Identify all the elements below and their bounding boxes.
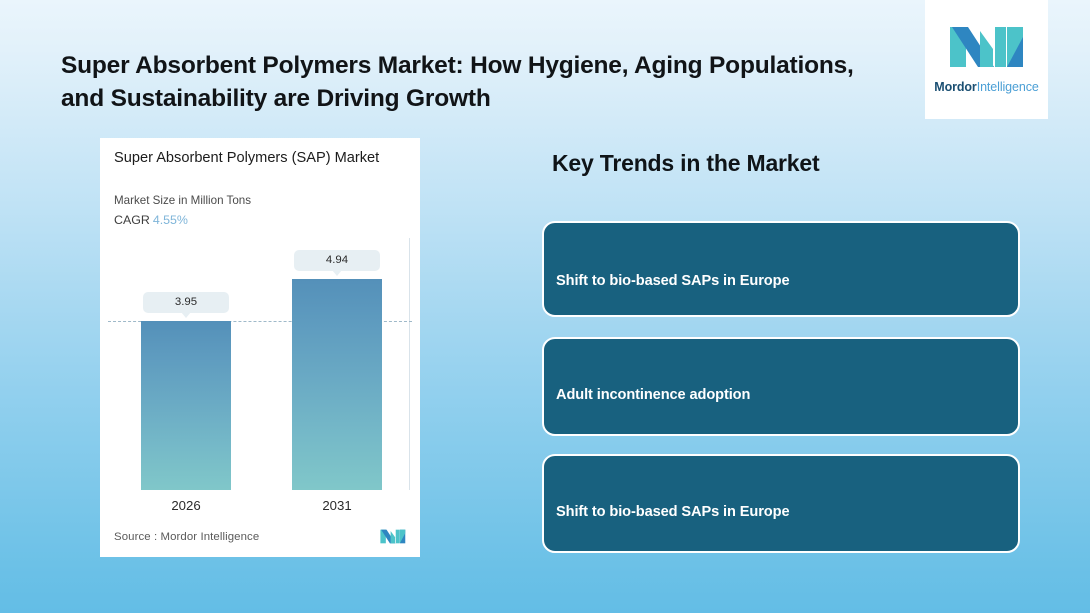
mordor-intelligence-logo-icon — [949, 25, 1025, 69]
value-badge-2031: 4.94 — [294, 250, 380, 271]
trend-card-3[interactable]: Shift to bio-based SAPs in Europe — [542, 454, 1020, 553]
brand-word-secondary: Intelligence — [977, 80, 1039, 94]
bar-2026[interactable] — [141, 321, 231, 490]
trend-card-3-label: Shift to bio-based SAPs in Europe — [556, 504, 789, 520]
cagr-label: CAGR — [114, 213, 150, 227]
chart-source-text: Source : Mordor Intelligence — [114, 531, 259, 543]
x-axis-label-2031: 2031 — [292, 498, 382, 513]
chart-subtitle: Market Size in Million Tons — [114, 194, 251, 207]
trend-card-1-label: Shift to bio-based SAPs in Europe — [556, 273, 789, 289]
page-title: Super Absorbent Polymers Market: How Hyg… — [61, 49, 891, 116]
brand-wordmark: MordorIntelligence — [934, 80, 1039, 94]
chart-cagr: CAGR4.55% — [114, 213, 188, 227]
chart-title: Super Absorbent Polymers (SAP) Market — [114, 148, 394, 169]
slide-canvas: Super Absorbent Polymers Market: How Hyg… — [0, 0, 1090, 613]
chart-plot-area: 3.95 4.94 — [100, 238, 420, 490]
trends-heading: Key Trends in the Market — [552, 150, 819, 177]
mordor-intelligence-mark-icon — [380, 529, 406, 544]
source-label: Source : — [114, 531, 157, 543]
cagr-value: 4.55% — [153, 213, 188, 227]
bar-2031[interactable] — [292, 279, 382, 490]
value-badge-2026: 3.95 — [143, 292, 229, 313]
brand-logo-plate: MordorIntelligence — [925, 0, 1048, 119]
source-name: Mordor Intelligence — [161, 531, 260, 543]
chart-card: Super Absorbent Polymers (SAP) Market Ma… — [100, 138, 420, 557]
brand-word-primary: Mordor — [934, 80, 976, 94]
y-axis-line — [409, 238, 410, 490]
trend-card-2[interactable]: Adult incontinence adoption — [542, 337, 1020, 436]
chart-source-row: Source : Mordor Intelligence — [114, 529, 406, 544]
trend-card-2-label: Adult incontinence adoption — [556, 387, 750, 403]
trend-card-1[interactable]: Shift to bio-based SAPs in Europe — [542, 221, 1020, 317]
x-axis-label-2026: 2026 — [141, 498, 231, 513]
